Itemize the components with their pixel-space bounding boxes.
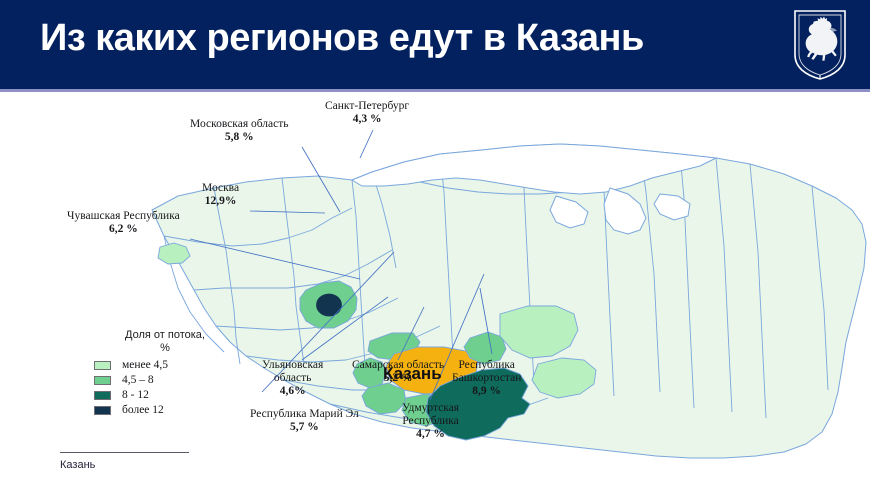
callout-udmurtia-name-line1: Удмуртская <box>402 402 459 415</box>
legend-items: менее 4,5 4,5 – 8 8 - 12 более 12 <box>84 358 259 417</box>
callout-chuvashia-name: Чувашская Республика <box>67 210 180 223</box>
callout-ulyanovsk: Ульяновская область 4,6% <box>262 359 323 398</box>
leader-line-spb <box>360 130 373 158</box>
callout-saint-petersburg: Санкт-Петербург 4,3 % <box>325 100 409 126</box>
callout-mari-el-name: Республика Марий Эл <box>250 408 359 421</box>
legend-title: Доля от потока, % <box>90 329 240 355</box>
legend-item-3: более 12 <box>84 403 259 417</box>
callout-saint-petersburg-value: 4,3 % <box>325 113 409 126</box>
footer-divider <box>60 452 189 453</box>
footer-label: Казань <box>60 459 95 471</box>
legend-item-1: 4,5 – 8 <box>84 373 259 387</box>
callout-moscow-oblast-name: Московская область <box>190 118 289 131</box>
legend-swatch-icon-3 <box>94 406 111 415</box>
legend-label-3: более 12 <box>122 404 164 416</box>
callout-ulyanovsk-value: 4,6% <box>262 385 323 398</box>
legend-label-2: 8 - 12 <box>122 389 149 401</box>
legend-item-2: 8 - 12 <box>84 388 259 402</box>
callout-moscow-name: Москва <box>202 182 239 195</box>
slide-header: Из каких регионов едут в Казань <box>0 0 870 89</box>
map-area: .land{fill:#e9f6e9;stroke:#7aa7dd;stroke… <box>0 92 870 489</box>
callout-samara-name: Самарская область <box>352 359 444 372</box>
callout-bashkortostan: Республика Башкортостан 8,9 % <box>452 359 521 398</box>
legend-title-line1: Доля от потока, <box>90 329 240 342</box>
kazan-coat-of-arms-zilant-icon <box>791 9 849 81</box>
region-moscow-city <box>317 294 342 316</box>
callout-moscow-oblast-value: 5,8 % <box>190 131 289 144</box>
callout-chuvashia-value: 6,2 % <box>67 223 180 236</box>
callout-mari-el-value: 5,7 % <box>250 421 359 434</box>
callout-ulyanovsk-name-line1: Ульяновская <box>262 359 323 372</box>
callout-bashkortostan-value: 8,9 % <box>452 385 521 398</box>
legend-swatch-icon-1 <box>94 376 111 385</box>
callout-mari-el: Республика Марий Эл 5,7 % <box>250 408 359 434</box>
callout-udmurtia: Удмуртская Республика 4,7 % <box>402 402 459 441</box>
callout-samara-value: 5,2 % <box>352 372 444 385</box>
callout-moscow-oblast: Московская область 5,8 % <box>190 118 289 144</box>
legend-title-line2: % <box>90 342 240 355</box>
page-title: Из каких регионов едут в Казань <box>40 17 644 60</box>
legend-label-0: менее 4,5 <box>122 359 168 371</box>
legend-swatch-icon-2 <box>94 391 111 400</box>
callout-moscow-value: 12,9% <box>202 195 239 208</box>
callout-udmurtia-name-line2: Республика <box>402 415 459 428</box>
callout-ulyanovsk-name-line2: область <box>262 372 323 385</box>
callout-samara: Самарская область 5,2 % <box>352 359 444 385</box>
callout-chuvashia: Чувашская Республика 6,2 % <box>67 210 180 236</box>
callout-bashkortostan-name-line2: Башкортостан <box>452 372 521 385</box>
legend-swatch-icon-0 <box>94 361 111 370</box>
legend-item-0: менее 4,5 <box>84 358 259 372</box>
callout-moscow: Москва 12,9% <box>202 182 239 208</box>
slide-root: Из каких регионов едут в Казань .land{fi… <box>0 0 870 489</box>
legend-label-1: 4,5 – 8 <box>122 374 154 386</box>
callout-bashkortostan-name-line1: Республика <box>452 359 521 372</box>
map-legend: Доля от потока, % менее 4,5 4,5 – 8 8 - … <box>84 329 259 418</box>
callout-udmurtia-value: 4,7 % <box>402 428 459 441</box>
callout-saint-petersburg-name: Санкт-Петербург <box>325 100 409 113</box>
